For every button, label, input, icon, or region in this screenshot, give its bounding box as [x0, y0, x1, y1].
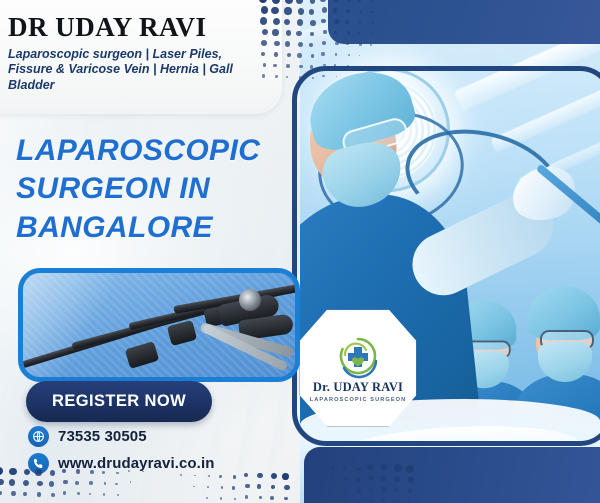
logo-subtitle: LAPAROSCOPIC SURGEON	[310, 397, 407, 403]
logo-title: Dr. UDAY RAVI	[313, 380, 403, 395]
specialties-text: Laparoscopic surgeon | Laser Piles, Fiss…	[8, 47, 256, 93]
logo-badge: Dr. UDAY RAVI LAPAROSCOPIC SURGEON	[296, 306, 420, 430]
contact-info: 73535 30505 www.drudayravi.co.in	[28, 426, 214, 480]
advertisement-banner: DR UDAY RAVI Laparoscopic surgeon | Lase…	[0, 0, 600, 503]
navy-top-bar	[328, 0, 600, 44]
page-title: DR UDAY RAVI	[8, 14, 264, 41]
laparoscopic-instruments-photo	[18, 268, 300, 382]
headline: LAPAROSCOPIC SURGEON IN BANGALORE	[16, 132, 284, 247]
headline-line-2: SURGEON IN	[16, 170, 284, 208]
phone-number-text: 73535 30505	[58, 428, 147, 445]
medical-cross-heart-swirl-icon	[332, 335, 384, 379]
endoscope-lens	[239, 289, 261, 311]
surgical-team-photo	[300, 0, 600, 503]
website-text: www.drudayravi.co.in	[58, 455, 214, 472]
contact-website[interactable]: www.drudayravi.co.in	[28, 453, 214, 474]
phone-icon	[28, 453, 49, 474]
register-now-button[interactable]: REGISTER NOW	[26, 381, 212, 422]
headline-line-1: LAPAROSCOPIC	[16, 132, 284, 170]
contact-phone-number[interactable]: 73535 30505	[28, 426, 214, 447]
doctor-name-card: DR UDAY RAVI Laparoscopic surgeon | Lase…	[0, 0, 282, 114]
headline-line-3: BANGALORE	[16, 209, 284, 247]
globe-icon	[28, 426, 49, 447]
navy-bottom-bar	[304, 447, 600, 503]
